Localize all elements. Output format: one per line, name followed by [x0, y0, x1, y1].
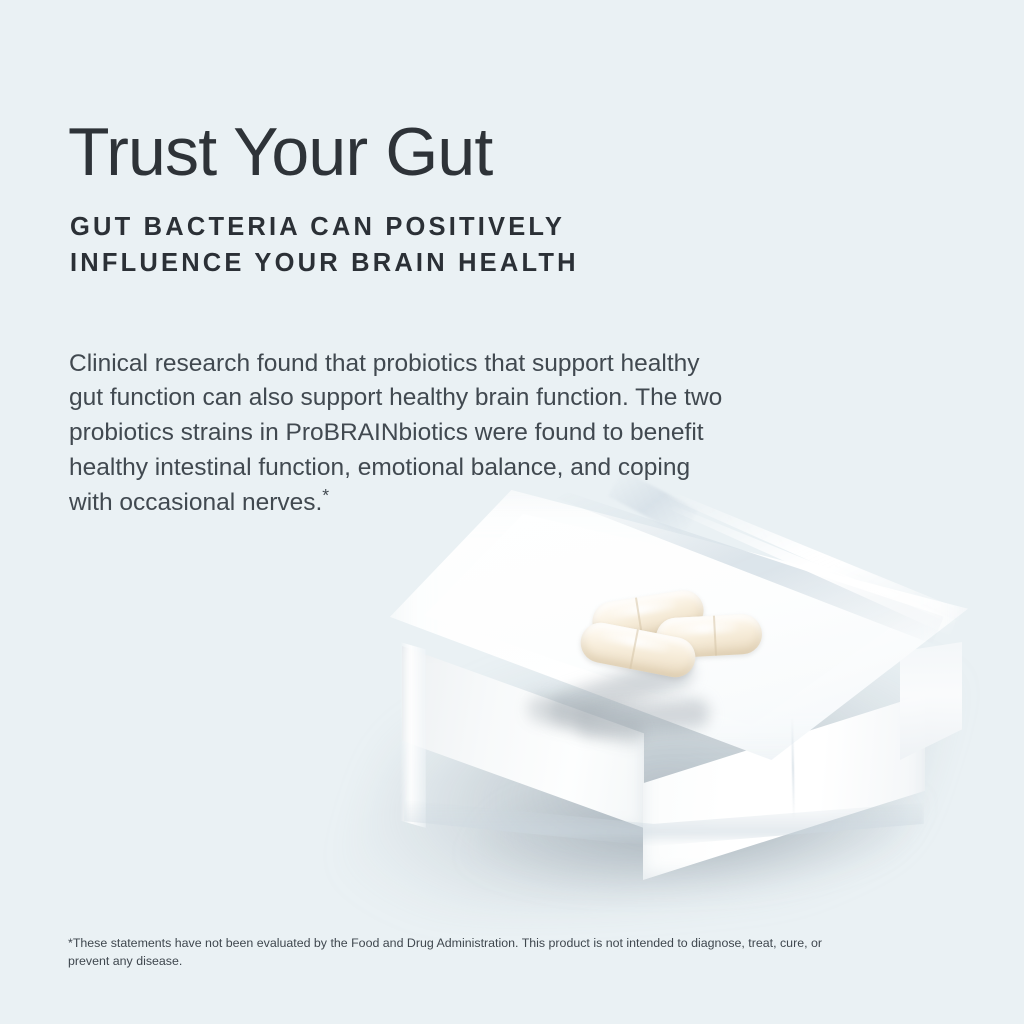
promotional-graphic: Trust Your Gut GUT BACTERIA CAN POSITIVE…: [0, 0, 1024, 1024]
body-line-2: gut function can also support healthy br…: [69, 381, 829, 416]
body-line-5-text: with occasional nerves.: [69, 489, 322, 516]
block-right-end-face: [900, 642, 962, 760]
subheading: GUT BACTERIA CAN POSITIVELY INFLUENCE YO…: [70, 209, 579, 281]
body-line-3: probiotics strains in ProBRAINbiotics we…: [69, 416, 829, 451]
disclaimer-asterisk: *: [322, 484, 329, 504]
page-title: Trust Your Gut: [68, 118, 493, 186]
disclaimer-line-2: prevent any disease.: [68, 953, 948, 971]
subheading-line-2: INFLUENCE YOUR BRAIN HEALTH: [70, 245, 579, 281]
acrylic-display-block: [360, 470, 1000, 930]
block-left-bevel: [400, 642, 426, 828]
legal-disclaimer: *These statements have not been evaluate…: [68, 935, 948, 971]
body-line-1: Clinical research found that probiotics …: [69, 347, 829, 382]
subheading-line-1: GUT BACTERIA CAN POSITIVELY: [70, 209, 579, 245]
product-photo: [360, 470, 1000, 930]
disclaimer-line-1: *These statements have not been evaluate…: [68, 935, 948, 953]
